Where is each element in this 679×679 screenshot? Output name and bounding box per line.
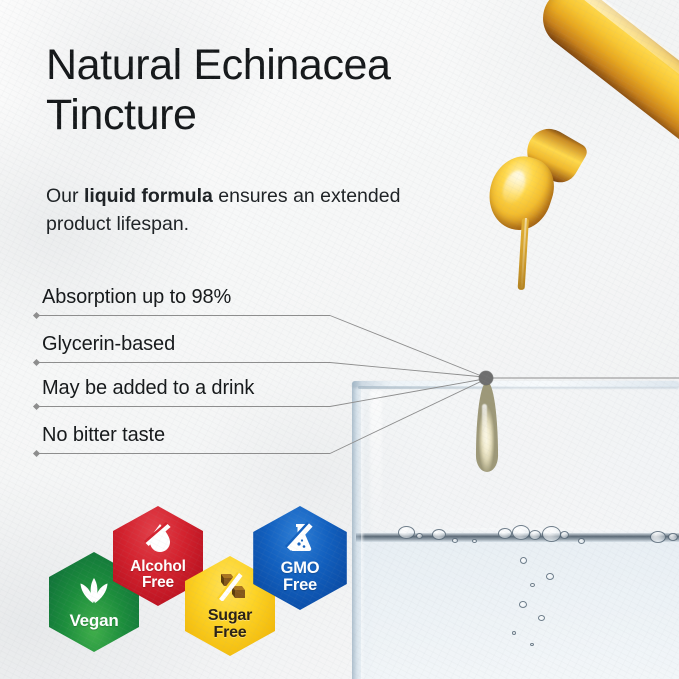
badge-gmo-line1: GMO [281,560,320,577]
flask-slash-icon [282,522,318,559]
badge-alcohol-line2: Free [142,575,174,591]
badge-alcohol-line1: Alcohol [130,559,185,575]
badge-vegan-label: Vegan [69,612,118,629]
droplet-slash-icon [140,521,176,558]
badge-gmo-line2: Free [283,577,317,594]
badge-sugar-line1: Sugar [208,608,252,624]
feature-label-taste: No bitter taste [42,424,165,447]
badge-sugar-line2: Free [214,625,247,641]
certification-badges: Vegan Alcohol Free [44,504,356,652]
infographic-canvas: Natural Echinacea Tincture Our liquid fo… [0,0,679,679]
badge-gmo-free: GMO Free [248,506,352,610]
feature-label-drink: May be added to a drink [42,377,254,400]
sugar-cubes-slash-icon [211,571,249,606]
feature-label-absorption: Absorption up to 98% [42,286,231,309]
leaf-icon [77,574,111,609]
feature-label-glycerin: Glycerin-based [42,333,175,356]
